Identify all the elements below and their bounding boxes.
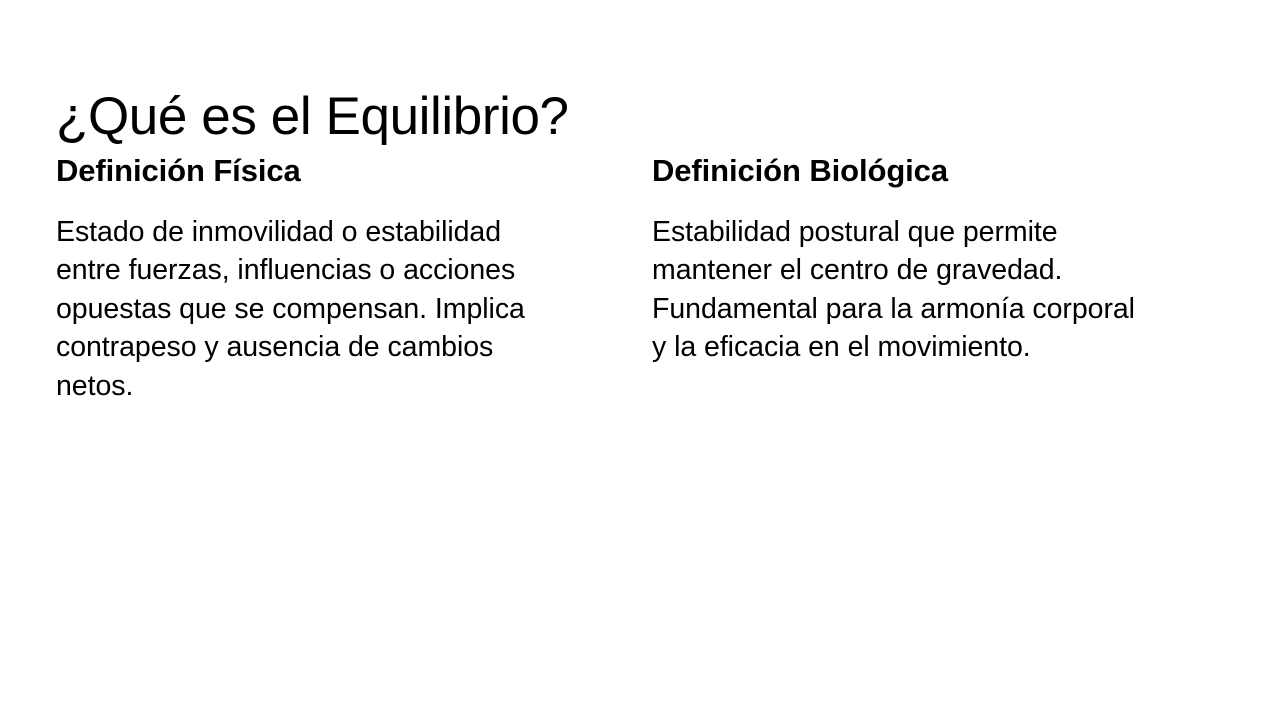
column-heading-fisica: Definición Física — [56, 152, 541, 191]
column-body-fisica: Estado de inmovilidad o estabilidad entr… — [56, 213, 541, 406]
slide-canvas: ¿Qué es el Equilibrio? Definición Física… — [0, 0, 1280, 720]
column-definicion-fisica: Definición Física Estado de inmovilidad … — [56, 152, 541, 405]
column-heading-biologica: Definición Biológica — [652, 152, 1152, 191]
column-definicion-biologica: Definición Biológica Estabilidad postura… — [652, 152, 1152, 367]
two-column-content: Definición Física Estado de inmovilidad … — [56, 152, 1226, 405]
page-title: ¿Qué es el Equilibrio? — [56, 86, 1226, 149]
column-body-biologica: Estabilidad postural que permite mantene… — [652, 213, 1152, 367]
